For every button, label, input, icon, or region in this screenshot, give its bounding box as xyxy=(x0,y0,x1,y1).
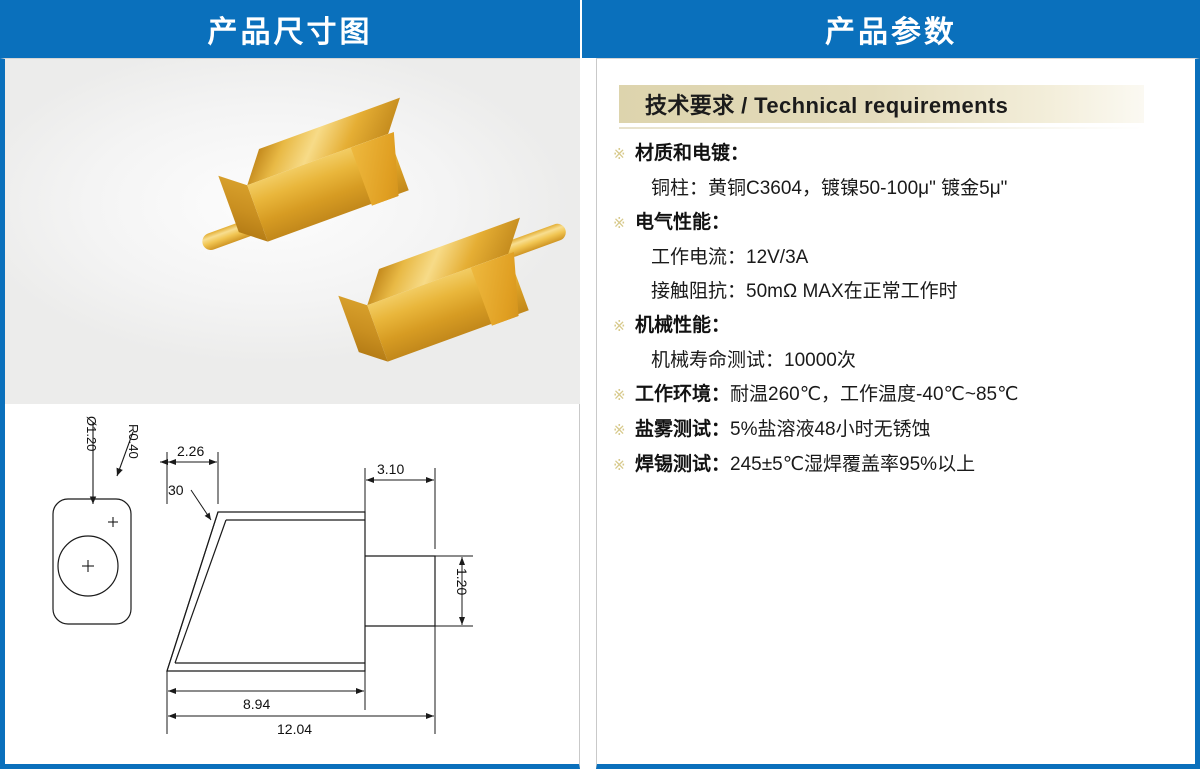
spec-title: 盐雾测试： xyxy=(635,413,730,447)
spec-group: ※ 材质和电镀： 铜柱：黄铜C3604，镀镍50-100μ" 镀金5μ" xyxy=(613,137,1173,206)
dim-corner-radius: R0.40 xyxy=(126,424,141,459)
dim-chamfer-angle: 30 xyxy=(168,482,184,498)
side-view-profile xyxy=(167,512,435,671)
end-view-outline xyxy=(53,499,131,624)
bullet-mark-icon: ※ xyxy=(613,137,635,172)
technical-requirements-title: 技术要求 / Technical requirements xyxy=(619,88,1008,120)
bullet-mark-icon: ※ xyxy=(613,378,635,413)
photo-background xyxy=(5,59,580,404)
spec-title: 工作环境： xyxy=(635,378,730,412)
spec-group: ※ 盐雾测试： 5%盐溶液48小时无锈蚀 xyxy=(613,413,1173,448)
spec-title: 材质和电镀： xyxy=(635,137,749,171)
bullet-mark-icon: ※ xyxy=(613,448,635,483)
dim-body-length: 8.94 xyxy=(243,696,270,712)
spec-inline-value: 5%盐溶液48小时无锈蚀 xyxy=(730,413,931,447)
dimension-pin-length xyxy=(365,468,435,549)
spec-inline-value: 耐温260℃，工作温度-40℃~85℃ xyxy=(730,378,1018,412)
end-view-center-marks xyxy=(82,517,118,572)
spec-detail-line: 接触阻抗：50mΩ MAX在正常工作时 xyxy=(613,275,1173,309)
dim-pin-diameter: 1.20 xyxy=(454,568,470,595)
dim-overall-length: 12.04 xyxy=(277,721,312,737)
bullet-mark-icon: ※ xyxy=(613,206,635,241)
header-row: 产品尺寸图 产品参数 xyxy=(0,0,1200,58)
dim-chamfer-length: 2.26 xyxy=(177,443,204,459)
header-left-title: 产品尺寸图 xyxy=(0,0,580,58)
header-right-title: 产品参数 xyxy=(582,0,1200,58)
bullet-mark-icon: ※ xyxy=(613,413,635,448)
specification-list: ※ 材质和电镀： 铜柱：黄铜C3604，镀镍50-100μ" 镀金5μ" ※ 电… xyxy=(613,137,1173,483)
spec-group: ※ 电气性能： 工作电流：12V/3A 接触阻抗：50mΩ MAX在正常工作时 xyxy=(613,206,1173,309)
dim-pin-length: 3.10 xyxy=(377,461,404,477)
dimension-overall-length xyxy=(167,626,435,734)
spec-inline-value: 245±5℃湿焊覆盖率95%以上 xyxy=(730,448,975,482)
dim-hole-diameter: Ø1.20 xyxy=(84,416,99,451)
spec-detail-line: 机械寿命测试：10000次 xyxy=(613,344,1173,378)
bullet-mark-icon: ※ xyxy=(613,309,635,344)
spec-title: 电气性能： xyxy=(635,206,730,240)
product-parameter-panel: 技术要求 / Technical requirements ※ 材质和电镀： 铜… xyxy=(596,58,1200,769)
engineering-drawing: Ø1.20 R0.40 2.26 xyxy=(5,404,580,764)
spec-detail-line: 工作电流：12V/3A xyxy=(613,241,1173,275)
product-dimension-panel: Ø1.20 R0.40 2.26 xyxy=(0,58,580,769)
header-underline xyxy=(619,127,1144,129)
product-photo xyxy=(5,59,580,404)
spec-group: ※ 焊锡测试： 245±5℃湿焊覆盖率95%以上 xyxy=(613,448,1173,483)
spec-title: 焊锡测试： xyxy=(635,448,730,482)
spec-group: ※ 工作环境： 耐温260℃，工作温度-40℃~85℃ xyxy=(613,378,1173,413)
technical-requirements-header: 技术要求 / Technical requirements xyxy=(619,85,1144,123)
spec-detail-line: 铜柱：黄铜C3604，镀镍50-100μ" 镀金5μ" xyxy=(613,172,1173,206)
spec-group: ※ 机械性能： 机械寿命测试：10000次 xyxy=(613,309,1173,378)
spec-title: 机械性能： xyxy=(635,309,730,343)
